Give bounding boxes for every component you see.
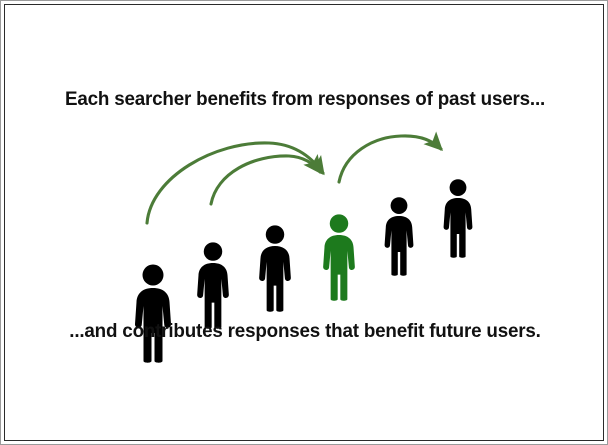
arrow-past-user-1-to-searcher: [147, 143, 323, 223]
person-figure-future-user-2: [444, 179, 473, 258]
arrow-searcher-to-future-user: [339, 136, 441, 182]
person-figure-past-user-1: [135, 265, 171, 363]
person-figure-past-user-3: [259, 225, 291, 311]
person-figure-past-user-2: [197, 242, 229, 328]
slide-frame: Each searcher benefits from responses of…: [0, 0, 608, 445]
arrow-past-user-2-to-searcher: [211, 156, 320, 204]
person-figure-current-searcher: [323, 214, 355, 300]
diagram-canvas: [1, 1, 608, 445]
caption-bottom: ...and contributes responses that benefi…: [12, 319, 599, 343]
person-figure-future-user-1: [385, 197, 414, 276]
